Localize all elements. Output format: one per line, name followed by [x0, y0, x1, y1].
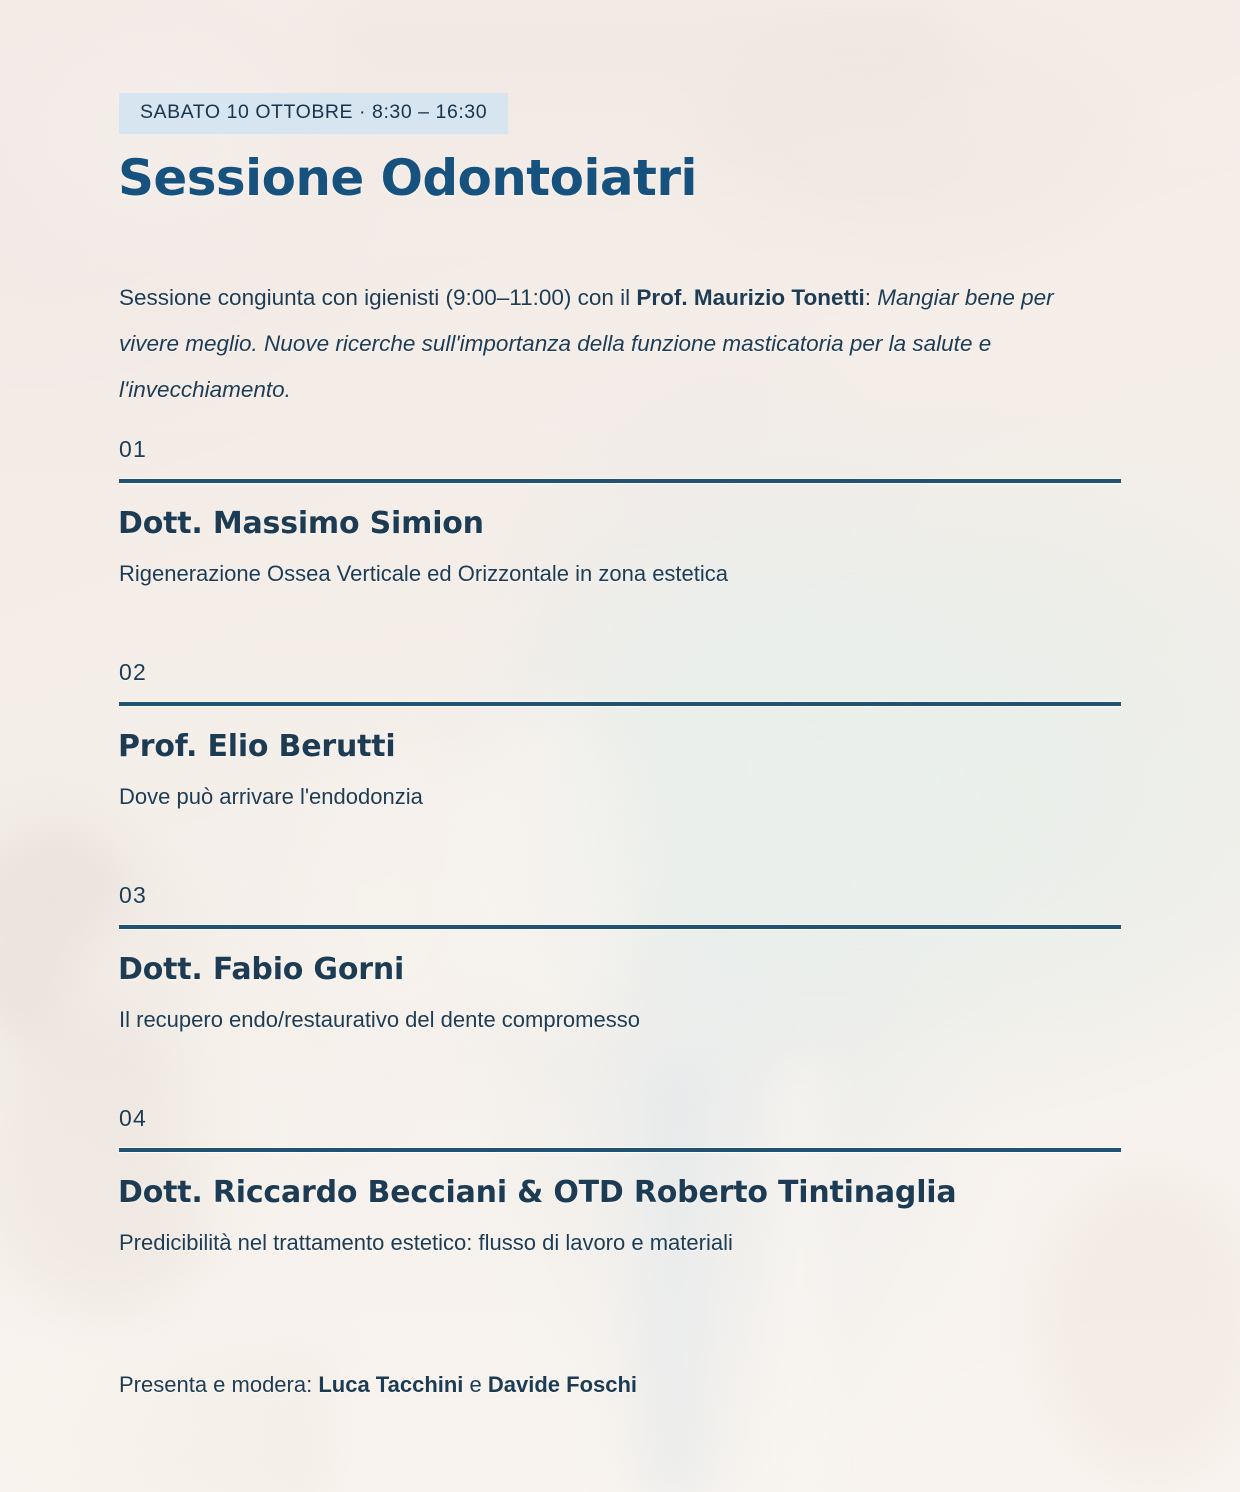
session-talk-title: Predicibilità nel trattamento estetico: …: [119, 1229, 1240, 1258]
date-time-badge: SABATO 10 OTTOBRE · 8:30 – 16:30: [119, 93, 508, 134]
session-talk-title: Il recupero endo/restaurativo del dente …: [119, 1006, 1240, 1035]
session-divider: [119, 702, 1121, 706]
session-list: 01 Dott. Massimo Simion Rigenerazione Os…: [0, 438, 1240, 1257]
session-number: 03: [119, 884, 1240, 907]
session-speaker: Dott. Fabio Gorni: [118, 953, 1240, 988]
intro-speaker-name: Prof. Maurizio Tonetti: [636, 285, 864, 310]
session-speaker: Prof. Elio Berutti: [118, 730, 1240, 765]
moderator-name-1: Luca Tacchini: [318, 1372, 463, 1397]
intro-line1-end: :: [865, 285, 871, 310]
session-number: 01: [119, 438, 1240, 461]
session-speaker: Dott. Riccardo Becciani & OTD Roberto Ti…: [118, 1176, 1240, 1211]
poster-content: SABATO 10 OTTOBRE · 8:30 – 16:30 Session…: [0, 0, 1240, 1492]
session-divider: [119, 479, 1121, 483]
session-divider: [119, 925, 1121, 929]
moderators-line: Presenta e modera: Luca Tacchini e David…: [119, 1372, 637, 1398]
session-item: 03 Dott. Fabio Gorni Il recupero endo/re…: [0, 884, 1240, 1034]
session-divider: [119, 1148, 1121, 1152]
session-item: 04 Dott. Riccardo Becciani & OTD Roberto…: [0, 1107, 1240, 1257]
moderator-name-2: Davide Foschi: [488, 1372, 637, 1397]
session-speaker: Dott. Massimo Simion: [118, 507, 1240, 542]
spacer: [0, 588, 1240, 661]
intro-line1-plain: Sessione congiunta con igienisti (9:00–1…: [119, 285, 636, 310]
page-title: Sessione Odontoiatri: [118, 150, 697, 206]
moderators-label: Presenta e modera:: [119, 1372, 318, 1397]
session-number: 04: [119, 1107, 1240, 1130]
session-talk-title: Dove può arrivare l'endodonzia: [119, 783, 1240, 812]
session-talk-title: Rigenerazione Ossea Verticale ed Orizzon…: [119, 560, 1240, 589]
spacer: [0, 1034, 1240, 1107]
spacer: [0, 811, 1240, 884]
session-item: 02 Prof. Elio Berutti Dove può arrivare …: [0, 661, 1240, 811]
session-item: 01 Dott. Massimo Simion Rigenerazione Os…: [0, 438, 1240, 588]
intro-paragraph: Sessione congiunta con igienisti (9:00–1…: [119, 275, 1094, 413]
moderators-conjunction: e: [463, 1372, 487, 1397]
session-number: 02: [119, 661, 1240, 684]
